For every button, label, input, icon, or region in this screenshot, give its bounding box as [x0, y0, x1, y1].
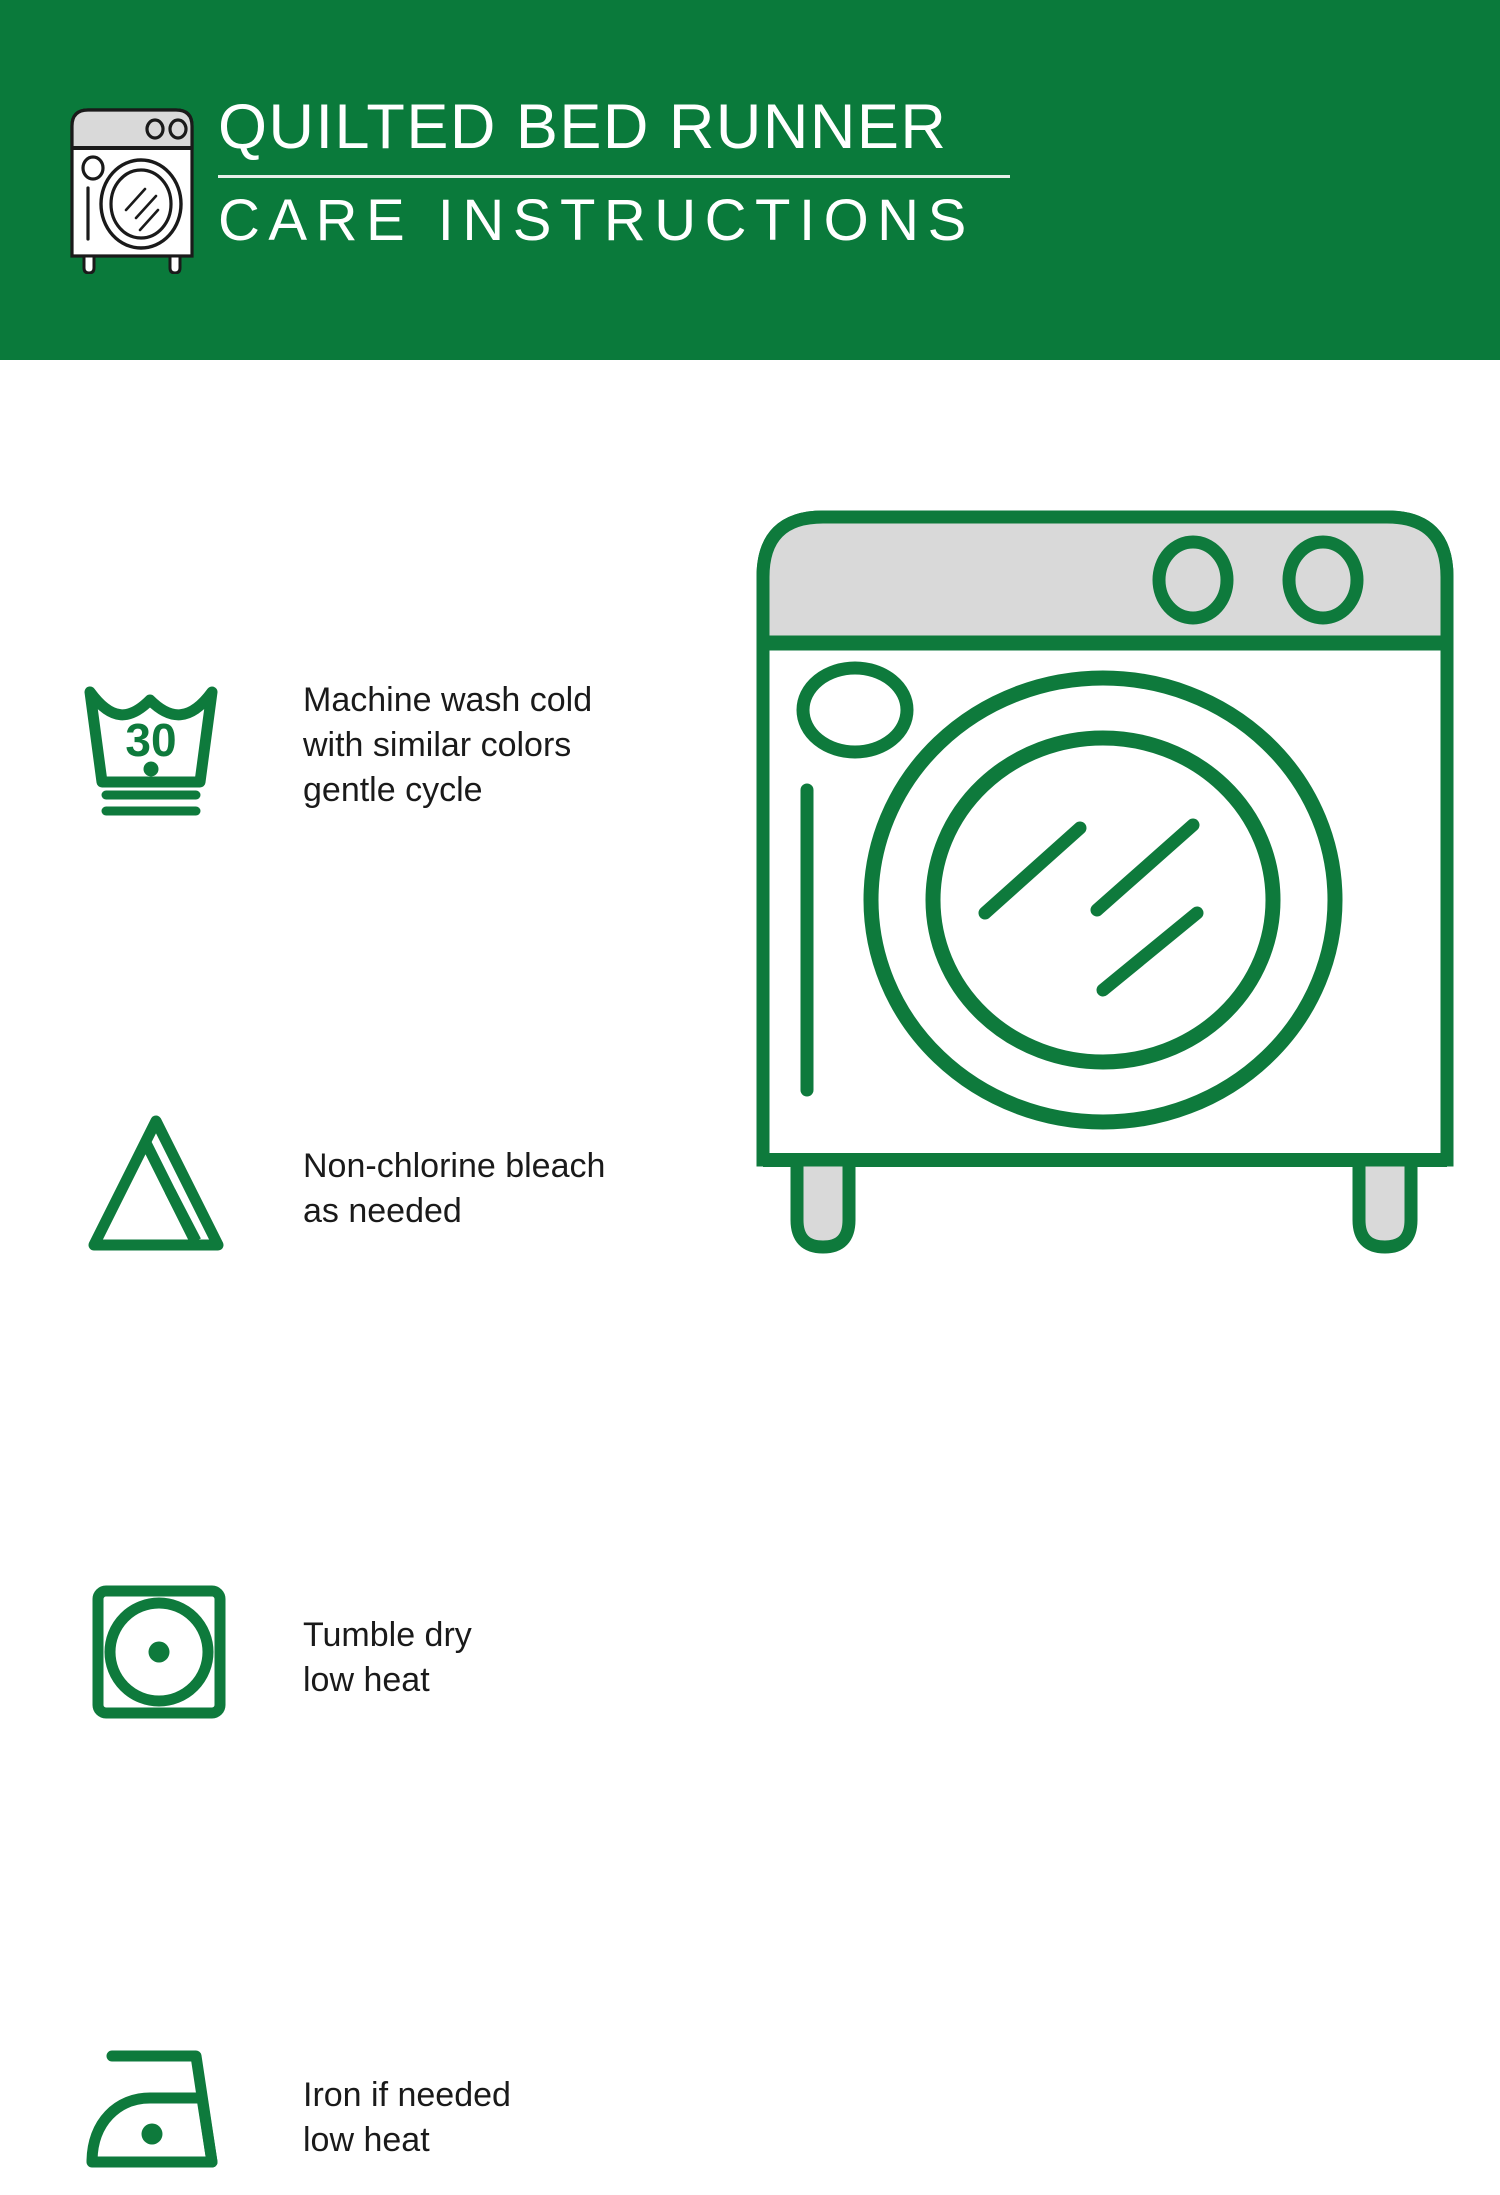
- header-divider: [218, 175, 1010, 178]
- care-row-bleach: Non-chlorine bleach as needed: [0, 732, 680, 892]
- washing-machine-icon: [62, 104, 202, 274]
- page-title: QUILTED BED RUNNER: [218, 96, 1018, 159]
- iron-low-heat-symbol: [78, 2040, 238, 2190]
- care-row-iron: Iron if needed low heat: [0, 1195, 680, 1355]
- care-instruction-list: 30 Machine wash cold with similar colors…: [0, 360, 680, 1500]
- care-row-label: Tumble dry low heat: [303, 1613, 653, 1703]
- tumble-dry-low-heat-symbol: [78, 1577, 238, 1727]
- header-text-block: QUILTED BED RUNNER CARE INSTRUCTIONS: [218, 96, 1018, 250]
- care-row-machine-wash: 30 Machine wash cold with similar colors…: [0, 510, 680, 690]
- care-row-label: Iron if needed low heat: [303, 2073, 653, 2163]
- page-subtitle: CARE INSTRUCTIONS: [218, 192, 1018, 250]
- washing-machine-illustration: [745, 495, 1465, 1420]
- header-banner: QUILTED BED RUNNER CARE INSTRUCTIONS: [0, 0, 1500, 360]
- care-row-tumble-dry: Tumble dry low heat: [0, 965, 680, 1125]
